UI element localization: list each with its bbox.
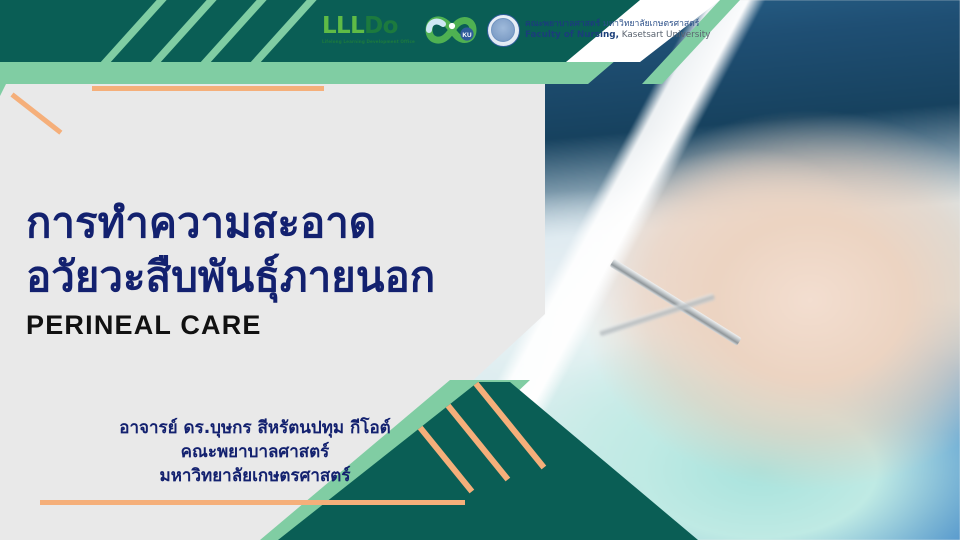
llldo-subtitle: Lifelong Learning Development Office <box>322 40 415 44</box>
university-name-english: Kasetsart University <box>622 30 711 40</box>
title-english: PERINEAL CARE <box>26 310 435 341</box>
university-name-thai: มหาวิทยาลัยเกษตรศาสตร์ <box>603 19 700 29</box>
author-faculty: คณะพยาบาลศาสตร์ <box>30 440 480 464</box>
llldo-wordmark-lll: LLL <box>322 13 364 39</box>
llldo-wordmark-do: Do <box>364 13 398 39</box>
author-name: อาจารย์ ดร.บุษกร สีหรัตนปทุม กีโอต์ <box>30 416 480 440</box>
llldo-logo: LLLDo Lifelong Learning Development Offi… <box>322 15 415 44</box>
ku-infinity-icon: KU <box>424 12 478 48</box>
faculty-name-english: Faculty of Nursing, Kasetsart University <box>525 30 710 40</box>
faculty-of-nursing-text: คณะพยาบาลศาสตร์ มหาวิทยาลัยเกษตรศาสตร์ F… <box>525 20 710 40</box>
orange-accent-bar-bottom <box>40 500 465 505</box>
faculty-name-thai-bold: คณะพยาบาลศาสตร์ <box>525 19 600 29</box>
title-slide: LLLDo Lifelong Learning Development Offi… <box>0 0 960 540</box>
author-university: มหาวิทยาลัยเกษตรศาสตร์ <box>30 464 480 488</box>
orange-accent-bar-top <box>92 86 324 91</box>
faculty-name-english-bold: Faculty of Nursing, <box>525 30 619 40</box>
logo-row: LLLDo Lifelong Learning Development Offi… <box>322 7 710 53</box>
author-block: อาจารย์ ดร.บุษกร สีหรัตนปทุม กีโอต์ คณะพ… <box>30 416 480 488</box>
kasetsart-seal-icon <box>487 14 520 47</box>
llldo-wordmark: LLLDo <box>322 15 398 38</box>
faculty-of-nursing-logo: คณะพยาบาลศาสตร์ มหาวิทยาลัยเกษตรศาสตร์ F… <box>487 14 710 47</box>
ku-infinity-logo: KU <box>424 12 478 48</box>
diagonal-stripe <box>83 0 179 72</box>
title-thai-line-1: การทำความสะอาด <box>26 196 435 250</box>
faculty-name-thai: คณะพยาบาลศาสตร์ มหาวิทยาลัยเกษตรศาสตร์ <box>525 20 710 30</box>
title-thai-line-2: อวัยวะสืบพันธุ์ภายนอก <box>26 250 435 304</box>
title-block: การทำความสะอาด อวัยวะสืบพันธุ์ภายนอก PER… <box>26 196 435 341</box>
svg-text:KU: KU <box>462 32 472 39</box>
